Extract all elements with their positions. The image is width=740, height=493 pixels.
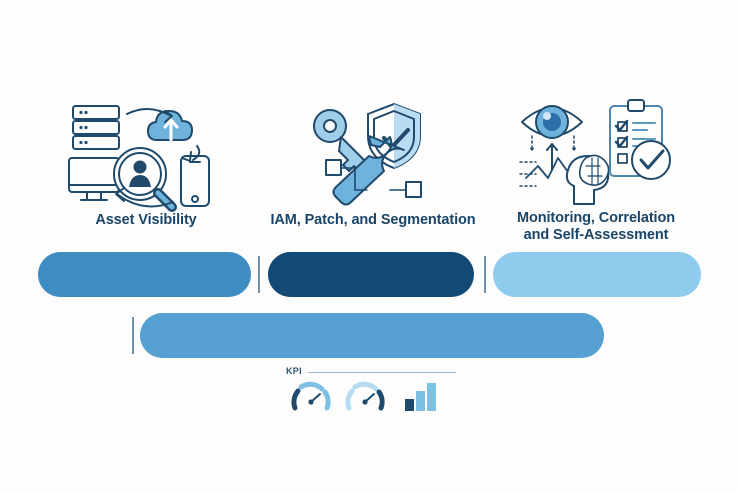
diagram-canvas: Asset Visibility [0, 0, 740, 493]
bar-chart-icon [404, 382, 438, 412]
pillar-label: IAM, Patch, and Segmentation [262, 212, 484, 229]
desktop-monitor-icon [69, 158, 119, 200]
up-arrow-icon [547, 144, 557, 170]
bar-divider [484, 256, 486, 293]
capability-bar-monitoring[interactable] [493, 252, 701, 297]
iam-patch-segmentation-icon [298, 100, 448, 212]
gauge-icon [344, 380, 386, 414]
smartphone-icon [181, 156, 209, 206]
bar-divider [258, 256, 260, 293]
pillar-label: Asset Visibility [28, 212, 264, 229]
kpi-strip: KPI [286, 366, 456, 416]
pillar-monitoring-correlation[interactable]: Monitoring, Correlation and Self-Assessm… [490, 92, 702, 244]
pillar-asset-visibility[interactable]: Asset Visibility [28, 100, 264, 229]
pillar-label: Monitoring, Correlation and Self-Assessm… [490, 210, 702, 244]
trend-chart-icon [526, 158, 568, 178]
asset-visibility-icon [61, 100, 231, 212]
capability-bar-asset-visibility[interactable] [38, 252, 251, 297]
brain-head-icon [566, 155, 608, 204]
capability-bar-crosscutting[interactable] [140, 313, 604, 358]
eye-icon [522, 106, 582, 138]
monitoring-correlation-icon [514, 92, 679, 210]
kpi-rule [308, 372, 456, 373]
bar-divider [132, 317, 134, 354]
pillar-iam-patch-segmentation[interactable]: IAM, Patch, and Segmentation [262, 100, 484, 229]
capability-bar-iam-patch[interactable] [268, 252, 474, 297]
check-circle-icon [632, 141, 670, 179]
kpi-label: KPI [286, 366, 302, 376]
server-stack-icon [73, 106, 119, 149]
gauge-icon [290, 380, 332, 414]
